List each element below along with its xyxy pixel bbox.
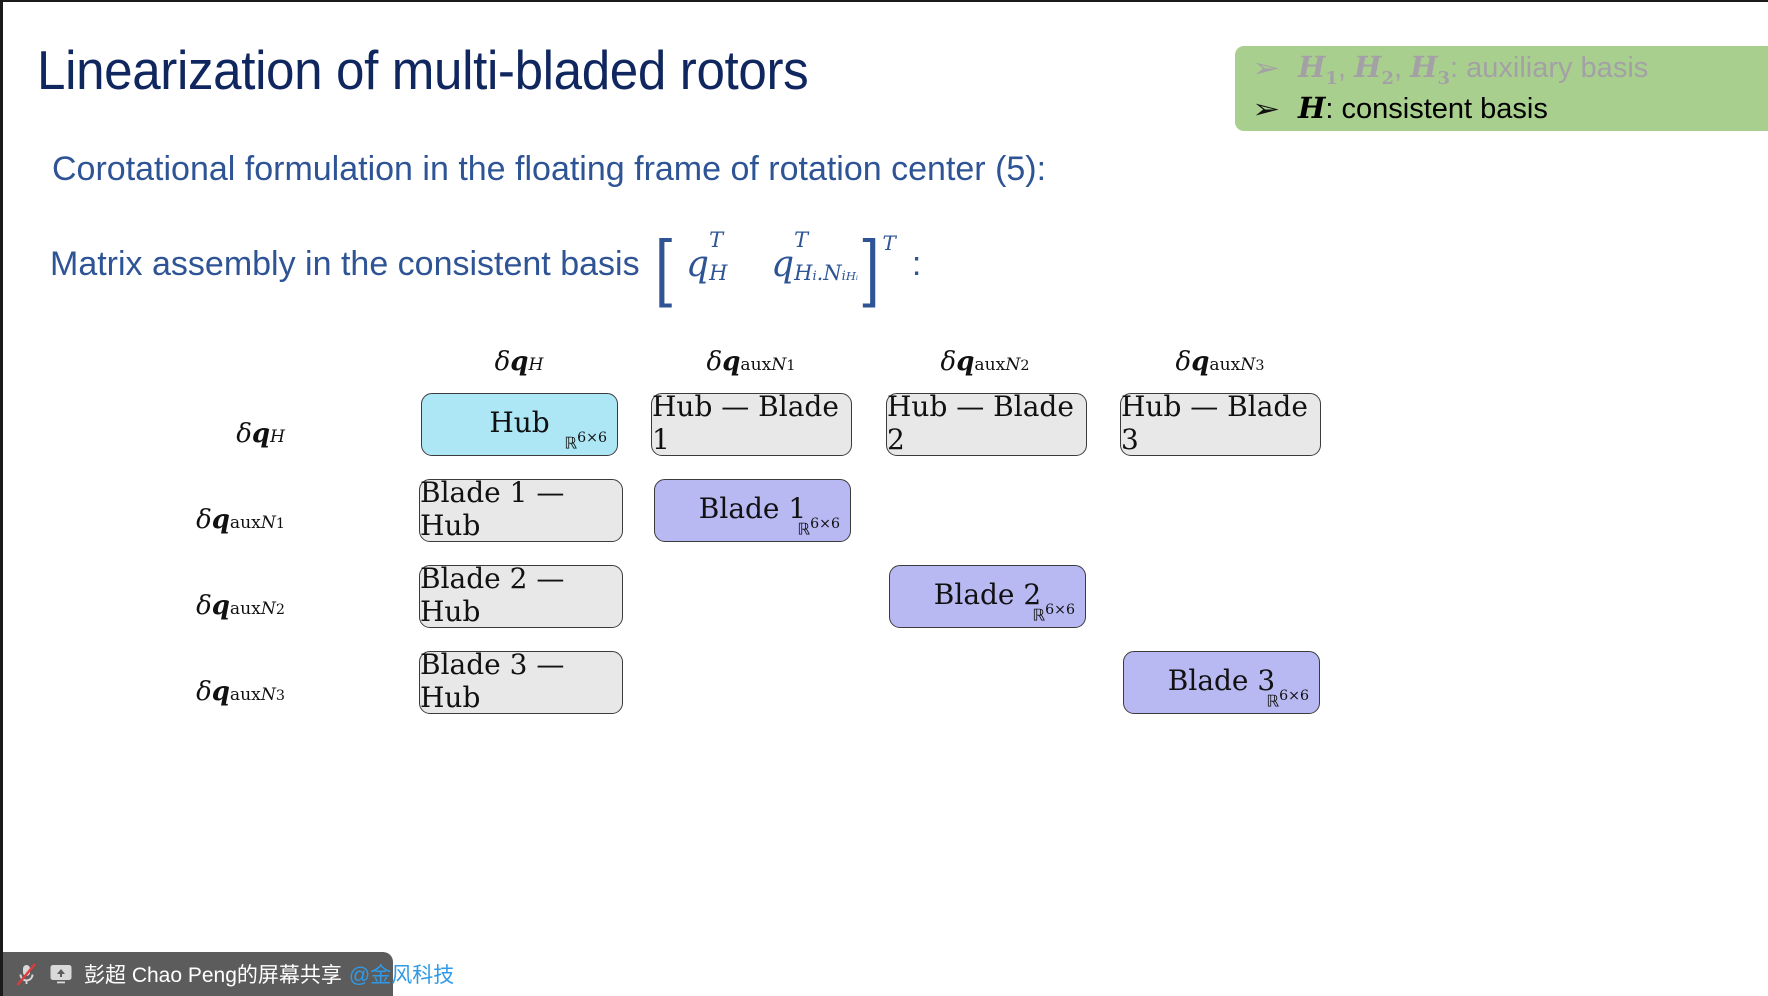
slide-canvas: Linearization of multi-bladed rotors ➢ H…	[0, 0, 1768, 996]
matrix-row-header-qauxN2: δqauxN2	[196, 591, 285, 621]
matrix-cell-blade2-hub[interactable]: Blade 2 — Hub	[419, 565, 623, 628]
bullet-arrow-icon: ➢	[1252, 54, 1310, 82]
screen-share-handle: @金风科技	[349, 959, 454, 989]
matrix-row: δqH Hub ℝ6×6 Hub — Blade 1 Hub — Blade 2…	[303, 393, 1403, 479]
matrix-cell-label: Blade 1	[699, 492, 806, 525]
bullet-arrow-icon: ➢	[1252, 95, 1310, 123]
matrix-row-header-qauxN3: δqauxN3	[196, 677, 285, 707]
callout-text-1: : auxiliary basis	[1450, 52, 1648, 84]
screen-share-icon[interactable]	[49, 963, 73, 985]
callout-box: ➢ H1, H2, H3: auxiliary basis ➢ H: consi…	[1235, 46, 1768, 131]
matrix-cell-hub-hub[interactable]: Hub ℝ6×6	[421, 393, 618, 456]
matrix-cell-label: Hub — Blade 3	[1121, 390, 1320, 456]
math-outer-transpose: T	[883, 231, 896, 255]
matrix-row: δqauxN1 Blade 1 — Hub Blade 1 ℝ6×6	[303, 479, 1403, 565]
math-term-q-h: qTH	[686, 244, 709, 285]
callout-text-2: : consistent basis	[1325, 93, 1547, 125]
matrix-row-header-qH: δqH	[236, 419, 285, 449]
matrix-row: δqauxN2 Blade 2 — Hub Blade 2 ℝ6×6	[303, 565, 1403, 651]
matrix-cell-hub-blade2[interactable]: Hub — Blade 2	[886, 393, 1087, 456]
matrix-cell-dimension: ℝ6×6	[1032, 602, 1075, 626]
matrix-cell-blade1-hub[interactable]: Blade 1 — Hub	[419, 479, 623, 542]
matrix-cell-blade3-blade3[interactable]: Blade 3 ℝ6×6	[1123, 651, 1320, 714]
matrix-cell-blade2-blade2[interactable]: Blade 2 ℝ6×6	[889, 565, 1086, 628]
matrix-cell-dimension: ℝ6×6	[1266, 688, 1309, 712]
matrix-cell-hub-blade1[interactable]: Hub — Blade 1	[651, 393, 852, 456]
matrix-col-header-qH: δqH	[495, 347, 544, 377]
matrix-cell-label: Blade 1 — Hub	[420, 476, 622, 542]
matrix-cell-blade1-blade1[interactable]: Blade 1 ℝ6×6	[654, 479, 851, 542]
body-line-corotational: Corotational formulation in the floating…	[52, 150, 1046, 189]
callout-item-auxiliary-basis: ➢ H1, H2, H3: auxiliary basis	[1235, 52, 1768, 89]
matrix-assembly-text: Matrix assembly in the consistent basis	[50, 245, 640, 284]
matrix-col-header-qauxN2: δqauxN2	[941, 347, 1030, 377]
matrix-row: δqauxN3 Blade 3 — Hub Blade 3 ℝ6×6	[303, 651, 1403, 737]
matrix-cell-label: Hub	[489, 406, 549, 439]
screen-share-taskbar[interactable]: 彭超 Chao Peng的屏幕共享 @金风科技	[3, 952, 393, 996]
matrix-row-header-qauxN1: δqauxN1	[196, 505, 285, 535]
matrix-cell-dimension: ℝ6×6	[564, 430, 607, 454]
callout-item-consistent-basis: ➢ H: consistent basis	[1235, 93, 1768, 124]
matrix-cell-label: Blade 2 — Hub	[420, 562, 622, 628]
matrix-column-headers: δqH δqauxN1 δqauxN2 δqauxN3	[303, 347, 1403, 393]
screen-share-label: 彭超 Chao Peng的屏幕共享	[84, 959, 342, 989]
matrix-cell-dimension: ℝ6×6	[797, 516, 840, 540]
matrix-cell-label: Hub — Blade 2	[887, 390, 1086, 456]
callout-symbol-h2: H2	[1354, 50, 1394, 84]
math-term-q-hi-ni: qTHi.NiHi	[771, 244, 794, 285]
matrix-cell-label: Hub — Blade 1	[652, 390, 851, 456]
page-title: Linearization of multi-bladed rotors	[37, 38, 808, 102]
matrix-assembly-grid: δqH δqauxN1 δqauxN2 δqauxN3 δqH Hub ℝ6×6…	[303, 347, 1403, 737]
body-line-matrix-assembly: Matrix assembly in the consistent basis …	[50, 244, 921, 285]
matrix-cell-blade3-hub[interactable]: Blade 3 — Hub	[419, 651, 623, 714]
matrix-col-header-qauxN1: δqauxN1	[707, 347, 796, 377]
matrix-col-header-qauxN3: δqauxN3	[1176, 347, 1265, 377]
matrix-cell-hub-blade3[interactable]: Hub — Blade 3	[1120, 393, 1321, 456]
matrix-cell-label: Blade 3	[1168, 664, 1275, 697]
matrix-cell-label: Blade 3 — Hub	[420, 648, 622, 714]
matrix-assembly-colon: :	[912, 245, 921, 284]
callout-symbol-h3: H3	[1410, 50, 1450, 84]
matrix-cell-label: Blade 2	[934, 578, 1041, 611]
math-subscript-chain: Hi.NiHi	[794, 261, 858, 285]
microphone-muted-icon[interactable]	[15, 962, 38, 987]
